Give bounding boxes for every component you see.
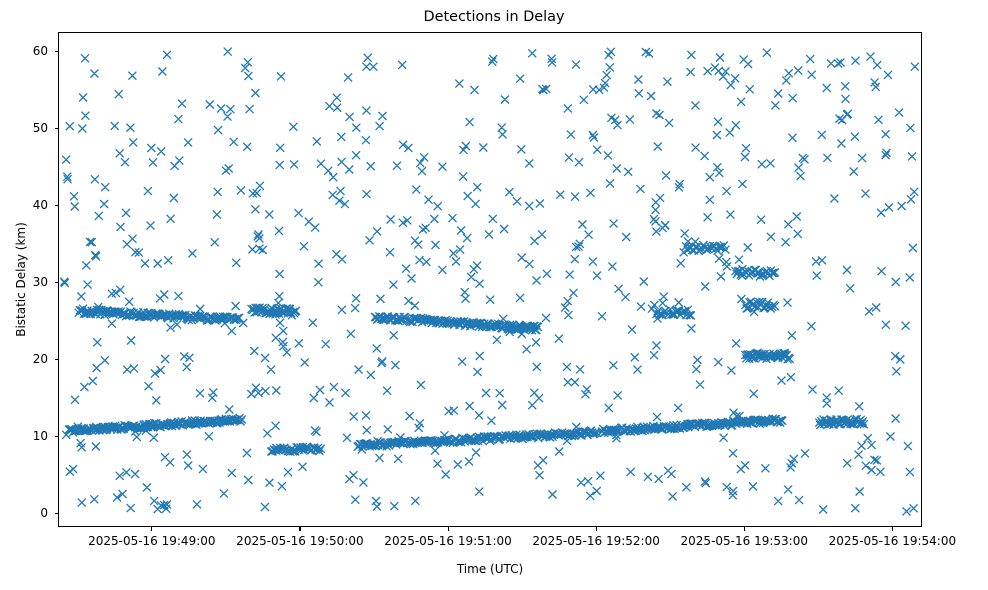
x-tick-label: 2025-05-16 19:50:00 [236,534,363,548]
y-tick-label: 50 [0,121,48,135]
x-tick-mark [744,527,745,531]
x-tick-label: 2025-05-16 19:49:00 [88,534,215,548]
scatter-series [59,33,922,527]
figure: Detections in Delay Bistatic Delay (km) … [0,0,988,590]
y-tick-label: 20 [0,352,48,366]
page-title: Detections in Delay [0,9,988,25]
y-tick-label: 60 [0,44,48,58]
x-tick-mark [596,527,597,531]
x-tick-label: 2025-05-16 19:53:00 [681,534,808,548]
x-tick-mark [448,527,449,531]
x-axis-label: Time (UTC) [58,562,922,576]
plot-area [58,32,922,527]
x-tick-mark [299,527,300,531]
scatter-markers [60,48,919,516]
x-tick-mark [892,527,893,531]
x-tick-label: 2025-05-16 19:54:00 [829,534,956,548]
x-tick-mark [151,527,152,531]
y-tick-label: 0 [0,506,48,520]
x-tick-label: 2025-05-16 19:51:00 [384,534,511,548]
y-tick-label: 40 [0,198,48,212]
y-tick-label: 10 [0,429,48,443]
x-tick-label: 2025-05-16 19:52:00 [532,534,659,548]
y-tick-label: 30 [0,275,48,289]
